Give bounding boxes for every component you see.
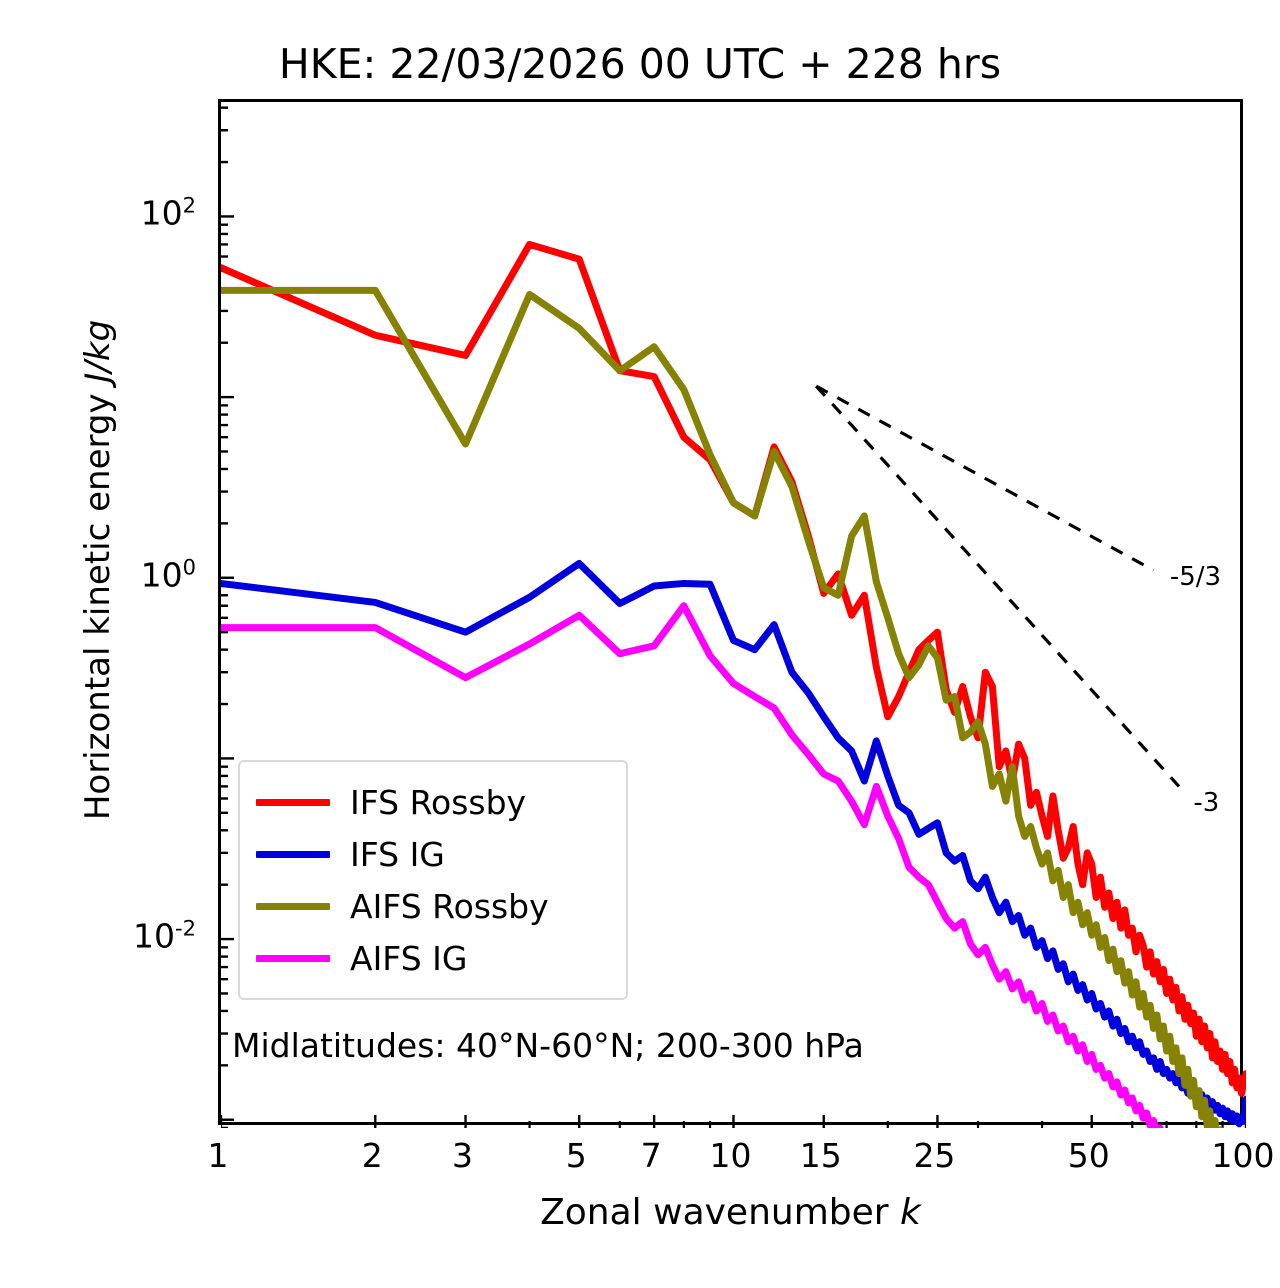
x-tick-label: 7 xyxy=(641,1136,662,1175)
legend-item-ifs-ig[interactable]: IFS IG xyxy=(256,828,608,880)
legend-color-swatch xyxy=(256,903,330,910)
slope-label-neg5-3: -5/3 xyxy=(1170,562,1221,592)
x-axis-label: Zonal wavenumber k xyxy=(218,1192,1243,1233)
y-axis-label: Horizontal kinetic energy J/kg xyxy=(78,120,118,1020)
legend-item-label: IFS Rossby xyxy=(350,783,526,822)
legend-item-aifs-rossby[interactable]: AIFS Rossby xyxy=(256,880,608,932)
chart-legend: IFS RossbyIFS IGAIFS RossbyAIFS IG xyxy=(238,760,628,1000)
slope-label-neg3: -3 xyxy=(1193,788,1219,818)
y-tick-label: 100 xyxy=(141,555,196,594)
legend-item-label: IFS IG xyxy=(350,835,445,874)
x-axis-label-symbol: k xyxy=(900,1192,921,1233)
x-tick-label: 2 xyxy=(362,1136,383,1175)
y-axis-label-units: J/kg xyxy=(78,320,118,383)
page-title: HKE: 22/03/2026 00 UTC + 228 hrs xyxy=(0,40,1280,88)
legend-item-label: AIFS Rossby xyxy=(350,887,549,926)
x-axis-label-main: Zonal wavenumber xyxy=(540,1192,900,1233)
y-tick-label: 10-2 xyxy=(133,917,196,956)
chart-page: HKE: 22/03/2026 00 UTC + 228 hrs Horizon… xyxy=(0,0,1280,1288)
legend-color-swatch xyxy=(256,799,330,806)
legend-item-aifs-ig[interactable]: AIFS IG xyxy=(256,932,608,984)
x-tick-label: 15 xyxy=(800,1136,842,1175)
x-tick-label: 10 xyxy=(710,1136,752,1175)
x-tick-label: 1 xyxy=(208,1136,229,1175)
x-tick-label: 50 xyxy=(1068,1136,1110,1175)
x-tick-label: 3 xyxy=(452,1136,473,1175)
y-tick-label: 102 xyxy=(141,194,196,233)
legend-color-swatch xyxy=(256,955,330,962)
y-axis-label-main: Horizontal kinetic energy xyxy=(78,383,118,821)
legend-color-swatch xyxy=(256,851,330,858)
legend-item-label: AIFS IG xyxy=(350,939,467,978)
x-tick-label: 100 xyxy=(1212,1136,1275,1175)
x-tick-label: 5 xyxy=(566,1136,587,1175)
series-line-aifs-rossby xyxy=(221,290,1244,1128)
x-tick-label: 25 xyxy=(913,1136,955,1175)
region-annotation: Midlatitudes: 40°N-60°N; 200-300 hPa xyxy=(232,1026,864,1065)
legend-item-ifs-rossby[interactable]: IFS Rossby xyxy=(256,776,608,828)
